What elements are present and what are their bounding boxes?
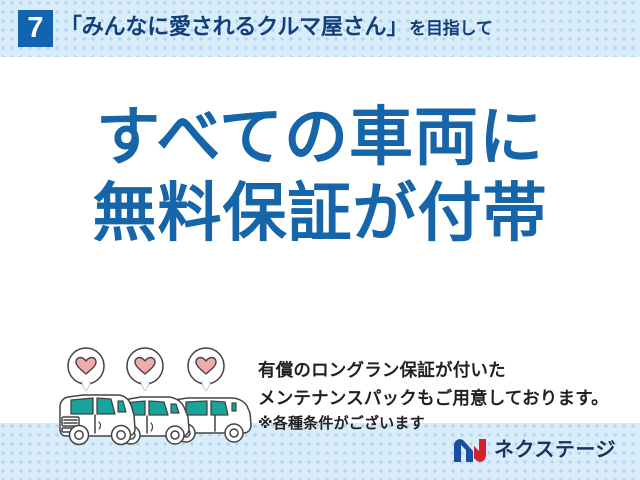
description-line-1: 有償のロングラン保証が付いた bbox=[258, 357, 609, 385]
content-lower: 有償のロングラン保証が付いた メンテナンスパックもご用意しております。 ※各種条… bbox=[0, 289, 640, 423]
heart-bubble-1 bbox=[68, 348, 104, 390]
content-panel: すべての車両に 無料保証が付帯 bbox=[0, 57, 640, 423]
header-title-sub: を目指して bbox=[409, 14, 493, 39]
brand-name: ネクステージ bbox=[494, 440, 616, 460]
heart-bubble-3 bbox=[188, 348, 224, 390]
headline-line-1: すべての車両に bbox=[0, 102, 640, 174]
slide-root: 7 「みんなに愛されるクルマ屋さん」 を目指して すべての車両に 無料保証が付帯 bbox=[0, 0, 640, 480]
headline-line-2: 無料保証が付帯 bbox=[0, 178, 640, 250]
heart-bubble-2 bbox=[127, 348, 163, 390]
footer-bar: ネクステージ bbox=[0, 423, 640, 480]
section-number-badge: 7 bbox=[18, 10, 53, 47]
headline-block: すべての車両に 無料保証が付帯 bbox=[0, 102, 640, 249]
header-title: 「みんなに愛されるクルマ屋さん」 を目指して bbox=[60, 9, 493, 49]
description-line-2: メンテナンスパックもご用意しております。 bbox=[258, 385, 609, 413]
n-mark-icon bbox=[453, 438, 487, 463]
header-title-main: 「みんなに愛されるクルマ屋さん」 bbox=[60, 9, 408, 41]
brand-logo: ネクステージ bbox=[453, 436, 616, 464]
header-bar: 7 「みんなに愛されるクルマ屋さん」 を目指して bbox=[0, 0, 640, 57]
